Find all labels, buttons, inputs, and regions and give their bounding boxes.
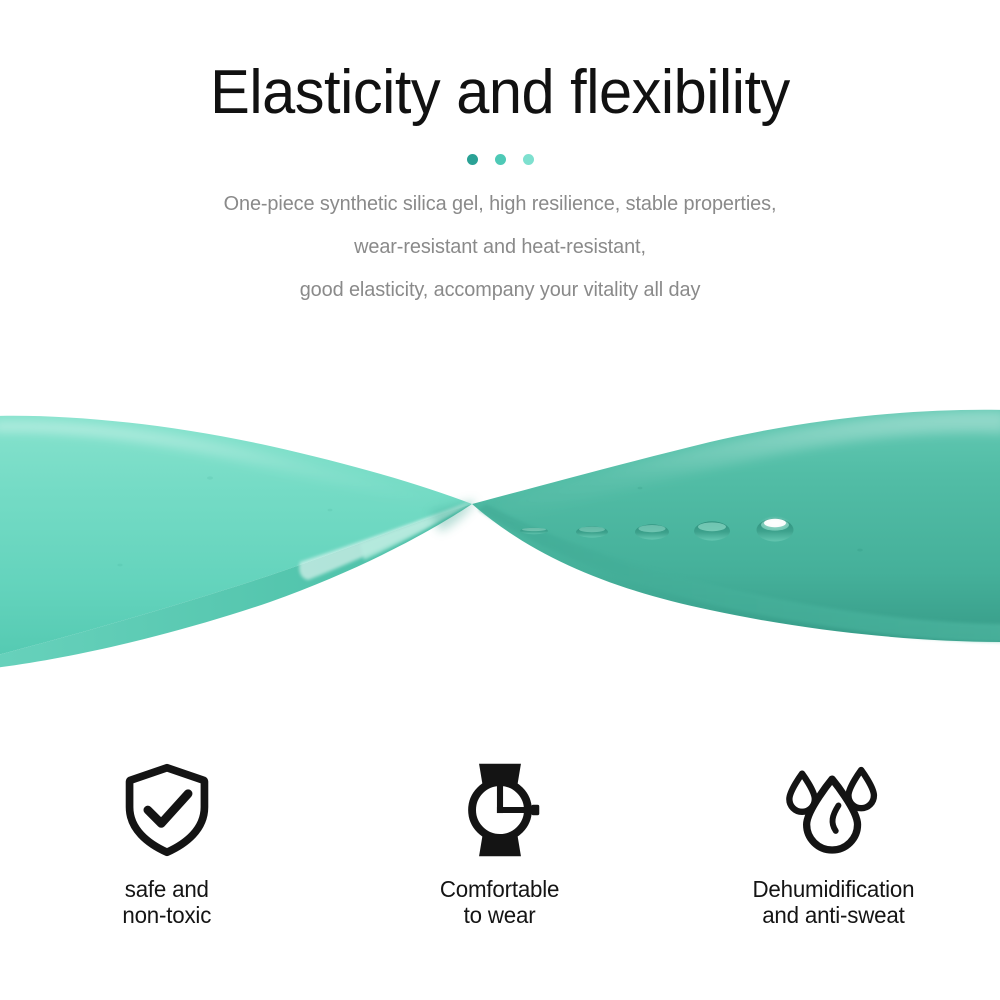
adjustment-hole-3 (635, 524, 669, 539)
water-drops-icon (783, 762, 883, 858)
adjustment-hole-5 (757, 516, 794, 542)
subtitle-line-3: good elasticity, accompany your vitality… (15, 268, 985, 311)
feature-label-dehumidification: Dehumidification and anti-sweat (752, 876, 914, 928)
feature-label-comfortable-to-wear: Comfortable to wear (440, 876, 559, 928)
subtitle-line-2: wear-resistant and heat-resistant, (15, 225, 985, 268)
shield-check-icon-wrap (119, 760, 215, 860)
product-image (0, 380, 1000, 690)
divider-dot-3 (523, 154, 534, 165)
divider-dot-2 (495, 154, 506, 165)
subtitle-block: One-piece synthetic silica gel, high res… (0, 182, 1000, 311)
wristwatch-icon-wrap (455, 760, 545, 860)
wristwatch-icon (455, 762, 545, 858)
adjustment-hole-4 (694, 521, 730, 540)
adjustment-hole-2 (576, 526, 608, 537)
divider-dots (0, 154, 1000, 165)
feature-comfortable-to-wear: Comfortable to wear (333, 760, 666, 928)
feature-dehumidification: Dehumidification and anti-sweat (667, 760, 1000, 928)
subtitle-line-1: One-piece synthetic silica gel, high res… (15, 182, 985, 225)
water-drops-icon-wrap (783, 760, 883, 860)
adjustment-hole-1 (520, 528, 548, 534)
feature-safe-non-toxic: safe and non-toxic (0, 760, 333, 928)
twisted-band-illustration (0, 380, 1000, 690)
infographic-page: Elasticity and flexibility One-piece syn… (0, 0, 1000, 1000)
header: Elasticity and flexibility One-piece syn… (0, 0, 1000, 311)
feature-label-safe-non-toxic: safe and non-toxic (122, 876, 211, 928)
shield-check-icon (119, 762, 215, 858)
feature-row: safe and non-toxic Comfor (0, 760, 1000, 928)
page-title: Elasticity and flexibility (20, 62, 980, 124)
divider-dot-1 (467, 154, 478, 165)
